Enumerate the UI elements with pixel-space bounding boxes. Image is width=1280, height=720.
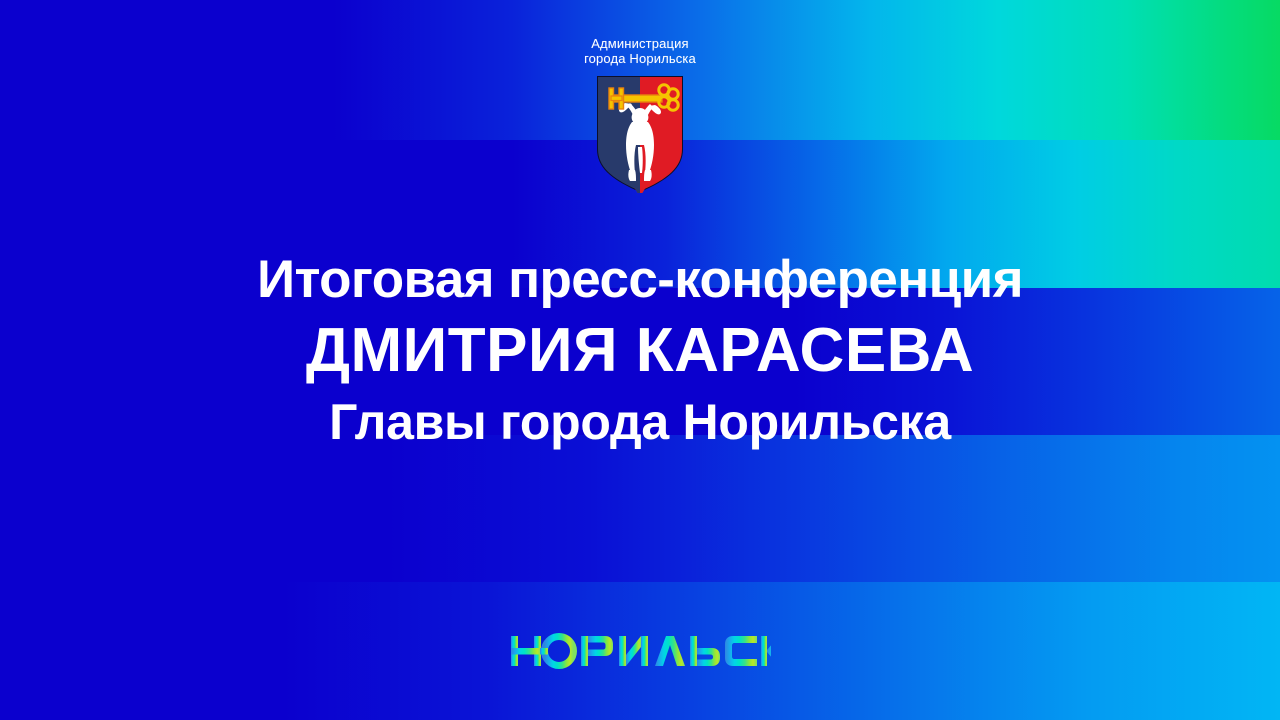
title-line-person-name: ДМИТРИЯ КАРАСЕВА (0, 312, 1280, 390)
wordmark-letters (511, 636, 771, 666)
title-line-position: Главы города Норильска (0, 390, 1280, 454)
norilsk-coat-of-arms-icon (594, 75, 686, 193)
norilsk-wordmark-logo (509, 628, 771, 674)
administration-caption: Администрация города Норильска (584, 36, 696, 66)
slide-title-block: Итоговая пресс-конференция ДМИТРИЯ КАРАС… (0, 248, 1280, 454)
shield-bottom-point-left (634, 187, 640, 193)
background-band-4 (0, 435, 1280, 582)
slide-header: Администрация города Норильска (0, 36, 1280, 193)
shield-field (598, 77, 682, 193)
title-line-subject: Итоговая пресс-конференция (0, 248, 1280, 312)
presentation-slide: Администрация города Норильска (0, 0, 1280, 720)
